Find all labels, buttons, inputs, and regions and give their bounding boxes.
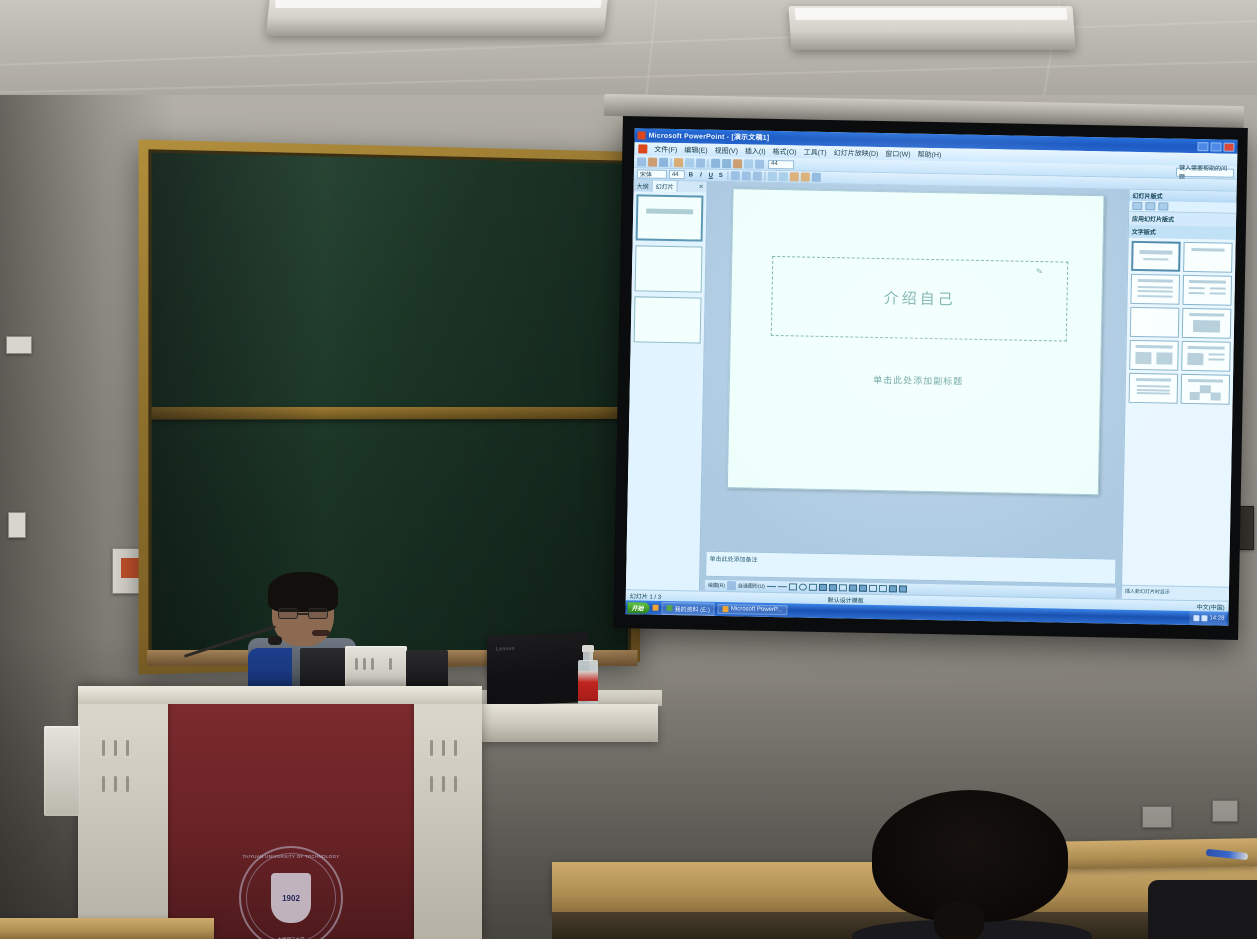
preview-icon[interactable] [685,158,694,167]
diagram-icon[interactable] [829,584,837,591]
slide-thumbnail-3[interactable] [634,296,702,343]
close-button[interactable] [1223,142,1234,151]
podium-desktop [78,686,482,704]
menu-item-slideshow[interactable]: 幻灯片放映(D) [834,148,879,159]
slides-pane-close-icon[interactable]: ✕ [695,181,706,192]
textbox-icon[interactable] [809,584,817,591]
task-pane-forward-icon[interactable] [1145,202,1155,210]
side-table [482,704,658,742]
task-pane-home-icon[interactable] [1158,202,1168,210]
slide-layout-grid[interactable] [1122,238,1236,587]
slide-title-text: 介绍自己 [884,287,956,309]
increase-font-icon[interactable] [790,172,799,181]
open-icon[interactable] [648,157,657,166]
laptop-brand-label: Lenovo [496,646,515,653]
picture-icon[interactable] [849,584,857,591]
glasses-icon [278,608,328,619]
clock[interactable]: 14:28 [1209,615,1224,621]
podium-front-panel: TAIYUAN UNIVERSITY OF TECHNOLOGY 1902 太原… [168,696,414,939]
line-color-icon[interactable] [869,585,877,592]
underline-button[interactable]: U [707,171,715,179]
3d-style-icon[interactable] [899,585,907,592]
layout-title-and-text[interactable] [1130,274,1180,305]
insert-chart-icon[interactable] [744,159,753,168]
laptop: Lenovo [487,632,589,706]
student-desk-left [0,918,214,939]
zoom-select[interactable]: 44 [768,159,794,168]
bold-button[interactable]: B [687,171,695,179]
task-pane[interactable]: 幻灯片版式 应用幻灯片版式 文字版式 [1121,190,1237,601]
slide-edit-pane[interactable]: 介绍自己 ✎ 单击此处添加副标题 单击此处添加备注 绘图(R) [700,182,1129,599]
wordart-icon[interactable] [819,584,827,591]
layout-title-two-content[interactable] [1129,340,1179,371]
task-pane-back-icon[interactable] [1132,202,1142,210]
menu-item-format[interactable]: 格式(O) [772,146,796,156]
autoshapes-menu-button[interactable]: 自选图形(U) [738,582,765,590]
powerpoint-body: 大纲 幻灯片 ✕ [626,180,1237,601]
print-icon[interactable] [674,158,683,167]
wall-fixture-left [6,336,32,354]
slide-thumbnail-list[interactable] [626,191,707,590]
student-bag [1148,880,1257,939]
start-button[interactable]: 开始 [627,602,649,613]
blackboard [139,140,640,675]
water-bottle [578,645,598,711]
microphone-head [268,636,282,645]
layout-blank[interactable] [1130,307,1180,338]
shadow-style-icon[interactable] [889,585,897,592]
slide-thumbnail-2[interactable] [635,245,703,292]
restore-button[interactable] [1210,142,1221,151]
layout-title-only[interactable] [1183,242,1233,273]
slides-pane[interactable]: 大纲 幻灯片 ✕ [626,180,708,590]
logo-university-name: TAIYUAN UNIVERSITY OF TECHNOLOGY [241,854,341,859]
podium-side-bracket [44,726,80,816]
slide-thumbnail-1[interactable] [636,194,704,241]
layout-title-slide[interactable] [1131,241,1181,272]
window-title: Microsoft PowerPoint - [演示文稿1] [649,131,770,143]
menu-item-window[interactable]: 窗口(W) [885,149,910,159]
menu-item-insert[interactable]: 插入(I) [745,146,766,156]
menu-item-help[interactable]: 帮助(H) [918,149,942,159]
toolbar-separator [670,157,672,166]
save-icon[interactable] [659,157,668,166]
language-indicator[interactable]: 中文(中国) [1197,602,1225,612]
menu-item-view[interactable]: 视图(V) [715,145,739,155]
bullets-icon[interactable] [768,172,777,181]
seated-student [872,790,1068,939]
layout-title-and-content[interactable] [1182,308,1232,339]
wall-outlet-left [8,512,26,538]
logo-shield: 1902 [271,873,311,923]
new-icon[interactable] [637,157,646,166]
oval-icon[interactable] [799,584,807,591]
document-icon[interactable] [638,144,647,153]
taskbar-item-explorer[interactable]: 我的资料 (E:) [661,601,715,615]
tray-icon-2[interactable] [1201,615,1207,621]
taskbar-item-powerpoint[interactable]: Microsoft PowerP... [718,604,787,615]
draw-menu-button[interactable]: 绘图(R) [708,582,725,589]
slide-subtitle-text: 单击此处添加副标题 [873,373,963,388]
powerpoint-window[interactable]: Microsoft PowerPoint - [演示文稿1] 文件(F) 编辑(… [625,128,1237,625]
title-placeholder[interactable]: 介绍自己 [771,255,1069,341]
font-name-select[interactable]: 宋体 [637,169,667,179]
text-cursor-icon: ✎ [1035,266,1043,276]
ask-a-question-input[interactable]: 键入需要帮助的问题 [1176,167,1234,177]
menu-item-edit[interactable]: 编辑(E) [684,145,708,155]
layout-title-and-table[interactable] [1129,373,1179,404]
align-left-icon[interactable] [731,171,740,180]
toolbar-separator-2 [707,158,709,167]
quicklaunch-icon[interactable] [652,605,658,611]
ceiling-light-left [266,0,608,36]
clipart-icon[interactable] [839,584,847,591]
fmt-separator-2 [764,172,766,181]
powerpoint-taskbar-icon [723,606,729,612]
insert-table-icon[interactable] [733,159,742,168]
system-tray[interactable]: 14:28 [1189,611,1226,626]
minimize-button[interactable] [1197,142,1208,151]
align-right-icon[interactable] [753,172,762,181]
align-center-icon[interactable] [742,171,751,180]
taskbar-item-explorer-label: 我的资料 (E:) [674,604,710,614]
tray-icon-1[interactable] [1193,615,1199,621]
design-button-icon[interactable] [812,173,821,182]
italic-button[interactable]: I [697,171,705,179]
folder-icon [666,605,672,611]
undo-icon[interactable] [711,158,720,167]
layout-title-and-diagram[interactable] [1181,374,1231,405]
arrow-icon[interactable] [778,586,787,587]
subtitle-placeholder[interactable]: 单击此处添加副标题 [770,357,1067,404]
font-size-select[interactable]: 44 [669,170,685,179]
menu-item-tools[interactable]: 工具(T) [804,147,827,157]
university-logo: TAIYUAN UNIVERSITY OF TECHNOLOGY 1902 太原… [239,846,343,939]
fill-color-icon[interactable] [859,585,867,592]
decrease-font-icon[interactable] [801,172,810,181]
design-template-label[interactable]: 默认设计模板 [828,595,864,605]
rectangle-icon[interactable] [789,583,797,590]
redo-icon[interactable] [722,158,731,167]
menu-item-file[interactable]: 文件(F) [654,144,677,154]
slide-stage: 介绍自己 ✎ 单击此处添加副标题 [706,186,1124,556]
slide-counter: 幻灯片 1 / 3 [630,591,662,601]
line-icon[interactable] [767,586,776,587]
projection-screen: Microsoft PowerPoint - [演示文稿1] 文件(F) 编辑(… [613,116,1248,640]
podium: TAIYUAN UNIVERSITY OF TECHNOLOGY 1902 太原… [78,686,482,939]
tab-outline[interactable]: 大纲 [634,180,653,191]
classroom-scene: Microsoft PowerPoint - [演示文稿1] 文件(F) 编辑(… [0,0,1257,939]
current-slide[interactable]: 介绍自己 ✎ 单击此处添加副标题 [726,188,1104,495]
ceiling-light-right [788,6,1075,50]
spellcheck-icon[interactable] [696,158,705,167]
shadow-button[interactable]: S [717,171,725,179]
new-slide-icon[interactable] [755,159,764,168]
presenter-hair [268,572,338,612]
logo-year: 1902 [282,894,300,903]
layout-title-two-columns[interactable] [1182,275,1232,306]
font-color-icon[interactable] [879,585,887,592]
fmt-separator [727,171,729,180]
layout-title-content-text[interactable] [1181,341,1231,372]
numbering-icon[interactable] [779,172,788,181]
tab-slides[interactable]: 幻灯片 [653,181,678,192]
select-objects-icon[interactable] [727,581,736,590]
student-ponytail [934,902,984,939]
powerpoint-app-icon [638,131,646,139]
taskbar-item-powerpoint-label: Microsoft PowerP... [731,606,782,613]
